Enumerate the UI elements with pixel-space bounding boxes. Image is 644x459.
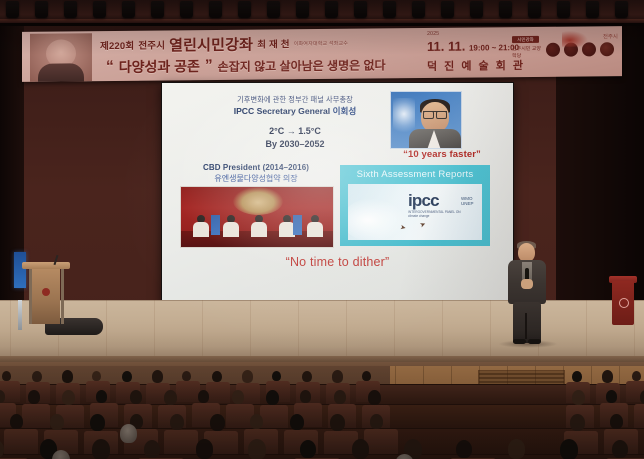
stage-light-fixture [354,1,367,18]
audience-member-head [362,371,371,381]
un-flag [293,215,302,235]
theater-seat [22,404,50,428]
cbd-heading: CBD President (2014–2016) 유엔생물다양성협약 의장 [180,163,332,184]
podium-top [22,262,70,269]
lecturer-shoe-right [528,339,541,344]
audience-member-head [370,414,383,429]
audience-member-head [62,390,75,405]
audience-member-head [330,414,345,431]
lecturer-trousers [513,302,541,343]
audience-member-head [248,439,266,459]
stage-light-fixture [615,1,628,18]
banner-speaker-name: 최 재 천 [257,36,290,50]
audience-member-head [570,414,585,431]
secgen-korean-role: 기후변화에 관한 정부간 패널 사무총장 [200,95,390,105]
banner-subtitle: 손잡지 않고 살아남은 생명은 없다 [218,56,386,75]
banner-venue: 덕 진 예 술 회 관 [427,57,525,74]
un-conference-photo [180,186,334,248]
audience-member-head [632,371,641,381]
ipcc-logo-text: ipcc [408,192,439,209]
lecturer-hands [521,279,533,289]
audience-member-head [92,439,110,459]
stage-light-fixture [412,1,425,18]
banner-line-2: “ 다양성과 공존 ” 손잡지 않고 살아남은 생명은 없다 [106,53,426,78]
fire-box-emblem [619,298,629,308]
stage-light-fixture [325,1,338,18]
conference-delegate [223,215,239,237]
theater-seat [364,429,398,456]
audience-member-head [152,370,163,383]
audience-member-head [640,390,644,404]
stage-light-fixture [122,1,135,18]
audience-member-head [332,370,343,383]
stage-light-fixture [6,1,19,18]
theater-seat [206,382,230,403]
floor-plank-seam [586,300,587,362]
projection-screen: 기후변화에 관한 정부간 패널 사무총장 IPCC Secretary Gene… [162,83,513,302]
audience-member-head [560,439,578,459]
event-banner: 제220회 전주시 열린시민강좌 최 재 천 이화여자대학교 석좌교수 “ 다양… [22,26,622,82]
banner-leaf-graphic [562,30,588,46]
audience-member-head [368,390,381,405]
banner-date: 11. 11. 19:00 ~ 21:00 [427,38,519,54]
audience-member-head [2,371,11,381]
stage-light-fixture [528,1,541,18]
ten-years-faster-callout: “10 years faster” [386,149,498,160]
banner-year: 2025 [427,31,439,37]
floor-plank-seam [634,300,635,362]
stage-light-fixture [209,1,222,18]
cbd-english-title: CBD President (2014–2016) [180,163,332,172]
audience-member-head [130,390,142,404]
audience-member-head [182,371,191,381]
stage-light-fixture [470,1,483,18]
banner-date-value: 11. 11. [427,39,465,54]
target-line: 2°C → 1.5°C [200,125,390,138]
theater-seat [260,405,288,429]
sixth-assessment-panel: Sixth Assessment Reports ipcc INTERGOVER… [340,165,490,246]
floor-plank-seam [202,300,203,362]
organizer-name: 전주시민 교양학당 [512,46,542,59]
audience-member-head [50,414,64,430]
audience-member-head [242,370,253,383]
bird-icon-1: ➤ [400,225,410,232]
un-flag [211,215,220,235]
banner-speaker-affiliation: 이화여자대학교 석좌교수 [294,39,348,47]
audience-member-head [232,390,244,404]
audience-member-head [90,414,105,431]
floor-plank-seam [10,300,11,362]
organizer-badge: 시민강좌 [512,36,539,43]
lecturer-shoe-left [513,339,526,344]
banner-line-1: 제220회 전주시 열린시민강좌 최 재 천 이화여자대학교 석좌교수 [100,32,400,55]
stage-light-fixture [93,1,106,18]
audience-member-head [212,371,222,383]
quote-close-mark: ” [205,57,213,75]
lighting-truss [0,0,644,22]
audience-member-head [334,390,346,404]
audience-member-head [210,414,225,431]
audience-member-head [300,440,316,458]
sponsor-emblem-1 [546,43,560,57]
stage-light-fixture [238,1,251,18]
podium-leg-right [61,269,64,324]
audience-member-head [170,414,184,430]
audience-member-head [456,440,472,458]
secgen-person-name: 이회성 [333,106,357,116]
slide-bottom-quote: “No time to dither” [162,255,513,269]
audience-member-head [120,424,137,443]
audience-member-head [272,371,281,381]
stage-light-fixture [35,1,48,18]
audience-member-head [606,390,617,403]
banner-lecture-number: 제220회 [100,38,134,52]
stage-light-fixture [441,1,454,18]
audience-member-head [92,371,101,381]
audience-member-head [290,414,304,430]
stage-light-fixture [383,1,396,18]
audience-member-head [612,440,628,458]
audience-area [0,366,644,459]
secretary-general-block: 기후변화에 관한 정부간 패널 사무총장 IPCC Secretary Gene… [200,95,390,151]
floor-plank-seam [346,300,347,362]
floor-plank-seam [250,300,251,362]
ipcc-logo-subtext: INTERGOVERNMENTAL PANEL ON climate chang… [408,210,468,219]
portrait-body [38,63,84,82]
secgen-english-role: IPCC Secretary General 이회성 [200,105,390,117]
audience-member-head [250,414,263,429]
stage-light-fixture [151,1,164,18]
conference-delegate [251,215,267,237]
podium-body [32,269,60,324]
theater-seat [634,404,644,428]
floor-plank-seam [298,300,299,362]
lecturer-on-stage [505,243,549,343]
audience-member-head [508,439,525,459]
banner-city: 전주시 [138,38,165,52]
audience-member-head [144,440,160,458]
audience-member-head [122,371,132,383]
theater-seat [4,429,38,456]
audience-member-head [572,371,582,383]
audience-member-head [266,390,279,405]
banner-logo-text: 전주시 [603,32,618,40]
quote-open-mark: “ [106,58,114,76]
audience-member-head [300,390,311,403]
stage-light-fixture [64,1,77,18]
floor-plank-seam [490,300,491,362]
temperature-target: 2°C → 1.5°C By 2030–2052 [200,125,390,151]
audience-member-head [164,390,177,405]
sponsor-emblem-4 [600,42,614,56]
cover-cloud [348,198,406,240]
audience-member-head [572,390,585,405]
audience-member-head [302,371,312,383]
audience-member-head [198,390,209,403]
floor-plank-seam [394,300,395,362]
wooden-podium [22,262,70,324]
audience-member-head [602,370,613,383]
assessment-title: Sixth Assessment Reports [340,169,490,180]
assessment-cover-image: ipcc INTERGOVERNMENTAL PANEL ON climate … [348,184,482,240]
audience-member-head [196,439,213,459]
period-line: By 2030–2052 [200,138,390,151]
wmo-unep-text: WMO UNEP [461,196,482,206]
cbd-korean-title: 유엔생물다양성협약 의장 [180,173,332,184]
stage-light-fixture [296,1,309,18]
un-conference-emblem [233,187,283,215]
audience-member-head [62,370,73,383]
floor-plank-seam [106,300,107,362]
theater-seat [176,381,200,402]
banner-speaker-portrait [30,33,92,82]
secgen-title-text: IPCC Secretary General [234,106,331,116]
floor-plank-seam [442,300,443,362]
stage-light-fixture [586,1,599,18]
audience-member-head [28,390,40,404]
audience-member-head [32,371,42,383]
microphone-stand [18,300,22,330]
banner-series-title: 열린시민강좌 [169,33,253,55]
banner-topic: 다양성과 공존 [119,56,200,77]
conference-delegate [307,215,323,237]
lecturer-leg-gap [525,313,527,339]
glasses-icon [423,111,447,118]
bird-icon-2: ➤ [419,220,429,228]
stage-light-fixture [267,1,280,18]
podium-emblem [42,288,50,296]
auditorium-photo: 제220회 전주시 열린시민강좌 최 재 천 이화여자대학교 석좌교수 “ 다양… [0,0,644,459]
floor-plank-seam [154,300,155,362]
audience-member-head [96,390,107,403]
stage-light-fixture [557,1,570,18]
stage-light-fixture [499,1,512,18]
audience-member-head [352,439,369,459]
stage-light-fixture [180,1,193,18]
secgen-photo [390,91,462,149]
conference-delegate [193,215,209,237]
audience-member-head [610,414,623,429]
audience-member-head [10,414,23,429]
